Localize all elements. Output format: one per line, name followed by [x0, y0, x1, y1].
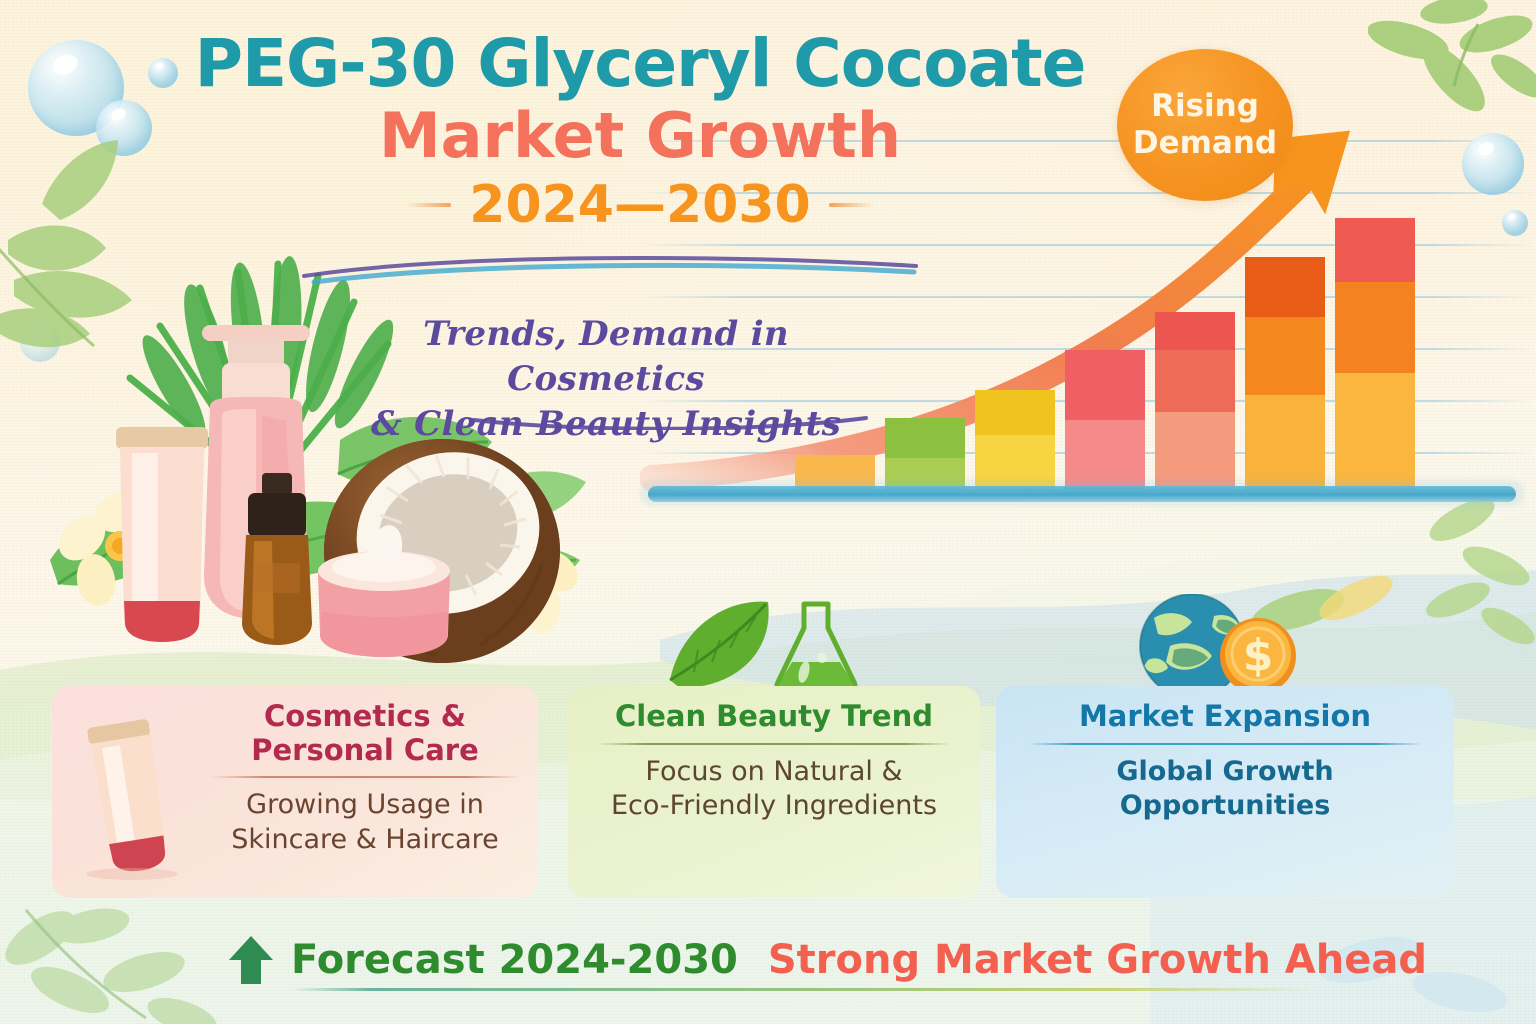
badge-line2: Demand	[1133, 125, 1277, 162]
footer-divider	[290, 988, 1315, 991]
footer-tagline: Strong Market Growth Ahead	[768, 937, 1427, 983]
chart-bar-segment	[1335, 218, 1415, 282]
card-body: Growing Usage inSkincare & Haircare	[200, 788, 530, 857]
title-dash-right	[829, 203, 875, 207]
card-body: Focus on Natural &Eco-Friendly Ingredien…	[586, 755, 962, 824]
badge-line1: Rising	[1151, 88, 1259, 125]
chart-bar	[1335, 218, 1415, 490]
chart-bar	[1065, 350, 1145, 490]
chart-bar-segment	[1065, 350, 1145, 420]
card-title: Market Expansion	[1014, 700, 1436, 734]
card-title: Clean Beauty Trend	[586, 700, 962, 734]
dropper-bottle-icon	[242, 473, 312, 645]
chart-bar	[975, 390, 1055, 490]
title-swoosh-divider	[300, 252, 920, 286]
sage-leaves-icon	[0, 886, 246, 1024]
title-block: PEG-30 Glyceryl Cocoate Market Growth 20…	[130, 28, 1150, 235]
cream-tube-icon	[116, 427, 208, 642]
card-clean-beauty-trend[interactable]: Clean Beauty Trend Focus on Natural &Eco…	[568, 686, 980, 898]
chart-bar	[1155, 312, 1235, 490]
card-market-expansion[interactable]: Market Expansion Global GrowthOpportunit…	[996, 686, 1454, 898]
page-title-line2: Market Growth	[130, 101, 1150, 170]
olive-branch-icon	[1368, 0, 1536, 132]
flask-icon	[777, 604, 855, 694]
card-body: Global GrowthOpportunities	[1014, 755, 1436, 824]
footer-forecast-label: Forecast 2024-2030	[291, 937, 738, 983]
chart-bar-segment	[1335, 373, 1415, 490]
card-divider	[210, 776, 520, 778]
chart-bar-segment	[885, 418, 965, 458]
globe-coin-icon: $	[1118, 594, 1308, 696]
dollar-coin-icon: $	[1220, 618, 1296, 694]
page-title-years: 2024—2030	[469, 175, 810, 235]
chart-bar-segment	[1245, 257, 1325, 317]
up-arrow-icon	[225, 934, 277, 986]
title-dash-left	[405, 203, 451, 207]
cream-tube-icon	[68, 714, 196, 880]
svg-text:$: $	[1243, 630, 1274, 681]
rising-demand-badge[interactable]: Rising Demand	[1117, 49, 1293, 201]
chart-baseline	[648, 486, 1516, 502]
page-title-years-row: 2024—2030	[130, 175, 1150, 235]
footer-bar: Forecast 2024-2030 Strong Market Growth …	[225, 925, 1315, 995]
card-cosmetics-personal-care[interactable]: Cosmetics & Personal Care Growing Usage …	[52, 686, 538, 898]
infographic-canvas: PEG-30 Glyceryl Cocoate Market Growth 20…	[0, 0, 1536, 1024]
chart-bar-segment	[1155, 312, 1235, 350]
subtitle-underline	[470, 414, 870, 430]
card-divider	[1027, 743, 1424, 745]
chart-bar-segment	[1245, 317, 1325, 395]
chart-bar	[1245, 257, 1325, 490]
card-divider	[597, 743, 950, 745]
leaf-icon	[670, 602, 769, 688]
chart-bar-segment	[1155, 350, 1235, 412]
page-title-line1: PEG-30 Glyceryl Cocoate	[130, 28, 1150, 99]
chart-bar-segment	[1155, 412, 1235, 490]
card-title: Cosmetics & Personal Care	[200, 700, 530, 767]
leaf-flask-icon	[664, 596, 864, 696]
chart-bar-segment	[975, 390, 1055, 435]
chart-bar-segment	[1245, 395, 1325, 490]
chart-bar-segment	[1335, 282, 1415, 373]
